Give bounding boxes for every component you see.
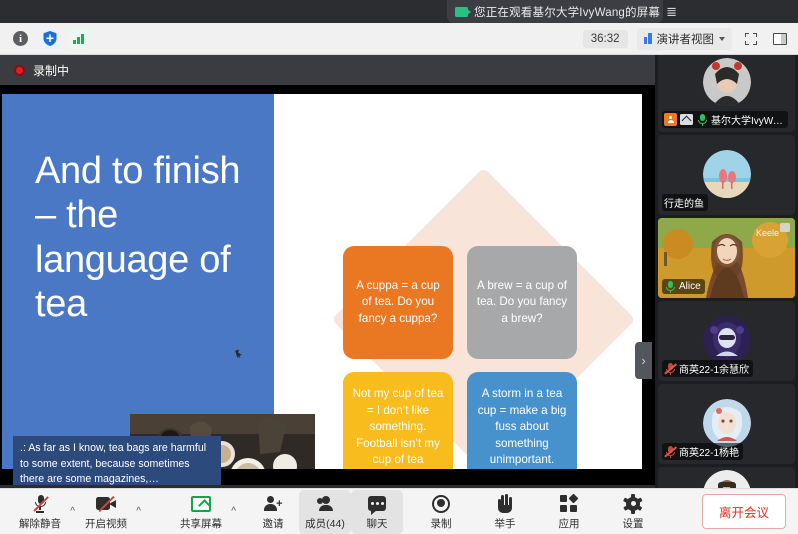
svg-text:Keele: Keele — [756, 228, 779, 238]
chevron-down-icon — [719, 37, 725, 41]
network-quality-icon[interactable] — [68, 28, 89, 49]
settings-label: 设置 — [623, 516, 644, 531]
avatar — [703, 150, 751, 198]
record-button[interactable]: 录制 — [415, 490, 467, 534]
shield-icon[interactable] — [39, 28, 60, 49]
share-screen-label: 共享屏幕 — [180, 516, 222, 531]
raise-hand-label: 举手 — [495, 516, 516, 531]
avatar — [703, 399, 751, 447]
apps-button[interactable]: 应用 — [543, 490, 595, 534]
diagram-box-grey: A brew = a cup of tea. Do you fancy a br… — [467, 246, 577, 359]
presentation-slide: And to finish – the language of tea A cu… — [2, 94, 642, 469]
microphone-muted-icon — [664, 362, 676, 375]
invite-label: 邀请 — [263, 516, 284, 531]
diagram-boxes: A cuppa = a cup of tea. Do you fancy a c… — [343, 246, 583, 469]
top-toolbar: i 36:32 演讲者视图 — [0, 23, 798, 55]
chat-label: 聊天 — [367, 516, 388, 531]
participant-tile[interactable]: 商英22-1杨艳 — [658, 384, 795, 464]
fullscreen-icon[interactable] — [741, 29, 761, 49]
diagram-box-yellow: Not my cup of tea = I don’t like somethi… — [343, 372, 453, 469]
invite-button[interactable]: + 邀请 — [247, 490, 299, 534]
participant-name: 商英22-1余慧欣 — [679, 361, 749, 376]
participant-nametag: 行走的鱼 — [662, 194, 708, 211]
share-screen-button[interactable]: 共享屏幕 ^ — [175, 490, 227, 534]
avatar — [703, 316, 751, 364]
info-icon[interactable]: i — [10, 28, 31, 49]
caption-overlay: .: As far as I know, tea bags are harmfu… — [13, 436, 221, 485]
diagram-box-blue: A storm in a tea cup = make a big fuss a… — [467, 372, 577, 469]
microphone-icon — [664, 280, 676, 293]
chat-bubble-icon — [368, 493, 386, 515]
chevron-up-icon[interactable]: ^ — [70, 506, 75, 517]
participant-name: 基尔大学IvyWan… — [711, 112, 784, 127]
leave-meeting-button[interactable]: 离开会议 — [702, 494, 786, 529]
participants-button[interactable]: 成员(44) — [299, 490, 351, 534]
slide-title: And to finish – the language of tea — [35, 149, 265, 327]
chevron-up-icon[interactable]: ^ — [231, 506, 236, 517]
screen-share-icon — [455, 7, 468, 17]
caption-text: .: As far as I know, tea bags are harmfu… — [13, 436, 221, 485]
zoom-meeting-window: 您正在观看基尔大学IvyWang的屏幕 ≣ i 36:32 演讲者视图 — [0, 0, 798, 534]
camera-off-icon — [96, 493, 116, 515]
layout-icon — [644, 33, 652, 44]
meeting-timer: 36:32 — [583, 30, 628, 48]
chat-button[interactable]: 聊天 — [351, 490, 403, 534]
apps-grid-icon — [560, 493, 578, 515]
participants-label: 成员(44) — [305, 516, 345, 531]
recording-label: 录制中 — [33, 62, 69, 79]
record-label: 录制 — [431, 516, 452, 531]
record-circle-icon — [432, 493, 450, 515]
participant-nametag: 基尔大学IvyWan… — [662, 111, 788, 128]
participant-tile[interactable]: ▾ — [658, 467, 795, 488]
participant-name: 行走的鱼 — [664, 195, 704, 210]
more-options-icon[interactable]: ≣ — [666, 5, 677, 18]
screen-share-label: 您正在观看基尔大学IvyWang的屏幕 — [474, 4, 660, 20]
start-video-label: 开启视频 — [85, 516, 127, 531]
participants-icon — [317, 493, 334, 515]
participant-tile[interactable]: 基尔大学IvyWan… — [658, 53, 795, 132]
participant-tile[interactable]: 行走的鱼 — [658, 135, 795, 215]
microphone-muted-icon — [664, 445, 676, 458]
view-selector[interactable]: 演讲者视图 — [637, 28, 733, 50]
start-video-button[interactable]: 开启视频 ^ — [80, 490, 132, 534]
participant-nametag: 商英22-1余慧欣 — [662, 360, 753, 377]
participant-nametag: Alice — [662, 279, 705, 294]
microphone-icon — [696, 113, 708, 126]
participant-nametag: 商英22-1杨艳 — [662, 443, 743, 460]
settings-button[interactable]: 设置 — [607, 490, 659, 534]
host-icon — [664, 113, 677, 126]
raise-hand-button[interactable]: 举手 — [479, 490, 531, 534]
collapse-panel-handle[interactable]: › — [635, 342, 652, 379]
share-screen-icon — [191, 493, 211, 515]
recording-dot-icon — [14, 65, 25, 76]
meeting-controls-toolbar: 解除静音 ^ 开启视频 ^ 共享屏幕 ^ + 邀请 — [0, 488, 798, 534]
screen-share-icon — [680, 114, 693, 125]
screen-share-banner[interactable]: 您正在观看基尔大学IvyWang的屏幕 ≣ — [447, 0, 663, 23]
chevron-up-icon[interactable]: ^ — [136, 506, 141, 517]
diagram-box-orange: A cuppa = a cup of tea. Do you fancy a c… — [343, 246, 453, 359]
unmute-button[interactable]: 解除静音 ^ — [14, 490, 66, 534]
apps-label: 应用 — [559, 516, 580, 531]
microphone-muted-icon — [33, 493, 48, 515]
participant-tile[interactable]: 商英22-1余慧欣 — [658, 301, 795, 381]
participant-name: Alice — [679, 281, 701, 292]
participant-tile-active-speaker[interactable]: Keele Alice — [658, 218, 795, 298]
unmute-label: 解除静音 — [19, 516, 61, 531]
shared-screen-stage[interactable]: And to finish – the language of tea A cu… — [0, 85, 655, 485]
side-panel-icon[interactable] — [770, 29, 790, 49]
view-selector-label: 演讲者视图 — [657, 31, 715, 47]
chevron-down-icon[interactable]: ▾ — [723, 481, 731, 488]
participant-rail[interactable]: 基尔大学IvyWan… 行走的鱼 — [655, 23, 798, 488]
raise-hand-icon — [497, 493, 513, 515]
recording-bar: 录制中 — [0, 55, 655, 85]
avatar — [703, 58, 751, 106]
participant-name: 商英22-1杨艳 — [679, 444, 739, 459]
add-person-icon: + — [264, 493, 283, 515]
gear-icon — [624, 493, 642, 515]
